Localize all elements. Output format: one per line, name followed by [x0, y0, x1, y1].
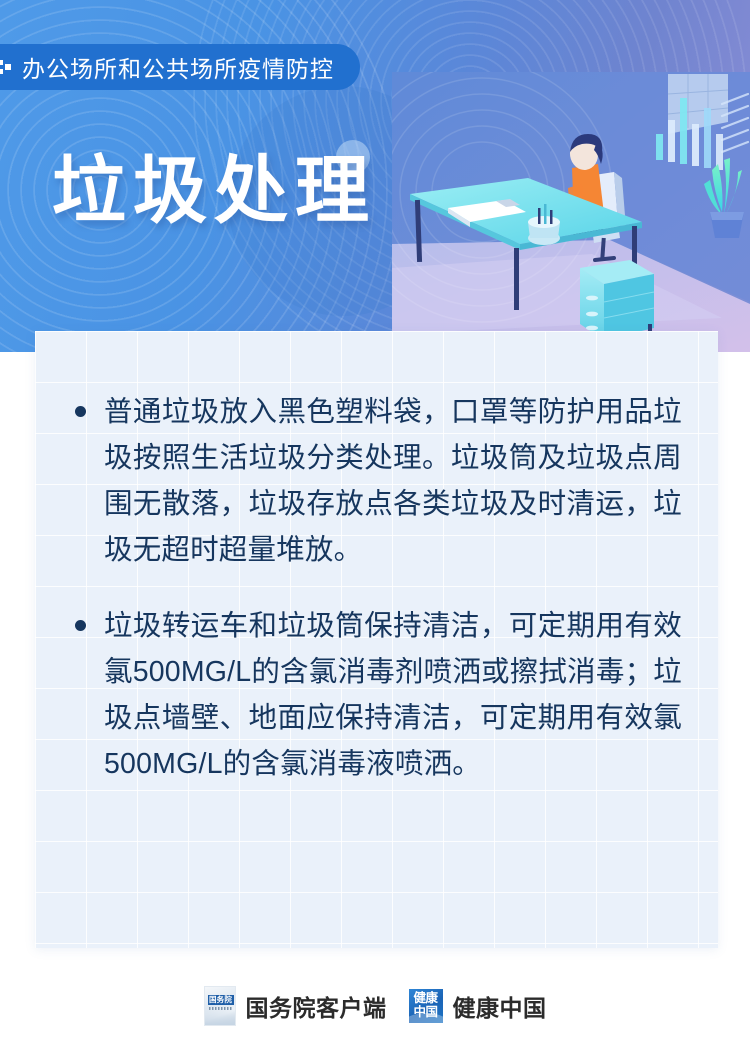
bullet-dot-icon — [75, 620, 86, 631]
jkzg-logo-text-bottom: 中国 — [409, 1005, 443, 1019]
list-item-text: 垃圾转运车和垃圾筒保持清洁，可定期用有效氯500MG/L的含氯消毒剂喷洒或擦拭消… — [104, 603, 682, 787]
guowuyuan-logo-wave — [205, 1009, 236, 1025]
brand-label-guowuyuan: 国务院客户端 — [246, 989, 387, 1023]
breadcrumb-label: 办公场所和公共场所疫情防控 — [22, 50, 334, 84]
list-item: 普通垃圾放入黑色塑料袋，口罩等防护用品垃圾按照生活垃圾分类处理。垃圾筒及垃圾点周… — [75, 389, 682, 573]
breadcrumb-pill: 办公场所和公共场所疫情防控 — [0, 44, 360, 90]
content-card: 普通垃圾放入黑色塑料袋，口罩等防护用品垃圾按照生活垃圾分类处理。垃圾筒及垃圾点周… — [35, 331, 718, 948]
bullet-dot-icon — [75, 406, 86, 417]
hero-section: 办公场所和公共场所疫情防控 垃圾处理 — [0, 0, 750, 352]
guowuyuan-logo-text: 国务院 — [208, 995, 234, 1005]
jiankang-zhongguo-logo-icon: 健康 中国 — [409, 989, 443, 1023]
list-item: 垃圾转运车和垃圾筒保持清洁，可定期用有效氯500MG/L的含氯消毒剂喷洒或擦拭消… — [75, 603, 682, 787]
page-title: 垃圾处理 — [52, 154, 376, 228]
poster-root: 办公场所和公共场所疫情防控 垃圾处理 普通垃圾放入黑色塑料袋，口罩等防护用品垃圾… — [0, 0, 750, 1050]
arrow-squares-icon — [0, 60, 12, 74]
guowuyuan-logo-icon: 国务院 — [204, 986, 236, 1026]
brand-label-jiankang-zhongguo: 健康中国 — [453, 989, 547, 1023]
list-item-text: 普通垃圾放入黑色塑料袋，口罩等防护用品垃圾按照生活垃圾分类处理。垃圾筒及垃圾点周… — [104, 389, 682, 573]
footer: 国务院 国务院客户端 健康 中国 健康中国 — [0, 962, 750, 1050]
hero-illustration — [392, 72, 750, 352]
brand-guowuyuan: 国务院 国务院客户端 — [204, 986, 387, 1026]
brand-jiankang-zhongguo: 健康 中国 健康中国 — [409, 989, 547, 1023]
jkzg-logo-text-top: 健康 — [409, 991, 443, 1005]
